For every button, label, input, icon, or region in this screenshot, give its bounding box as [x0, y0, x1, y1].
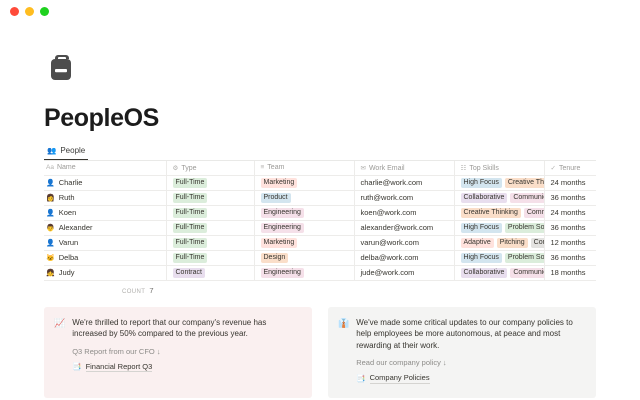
page-title: PeopleOS	[44, 104, 596, 133]
count-value: 7	[149, 286, 153, 295]
tab-people-label: People	[60, 146, 85, 155]
cell-email[interactable]: ruth@work.com	[354, 190, 454, 205]
column-header-tenure[interactable]: ✓Tenure	[544, 161, 596, 175]
tag-skill: Collaborative	[461, 268, 508, 279]
tag-skill: Collaborative	[461, 193, 508, 204]
cell-team[interactable]: Product	[254, 190, 354, 205]
cell-name-label: Judy	[59, 268, 75, 277]
count-label: Count	[122, 289, 145, 295]
tag-skill: High Focus	[461, 253, 502, 264]
cell-email[interactable]: charlie@work.com	[354, 175, 454, 190]
window-close-button[interactable]	[10, 7, 19, 16]
backpack-icon[interactable]	[44, 50, 78, 84]
tag-skill: High Focus	[461, 223, 502, 234]
database-table: AaName ⚙Type ≡Team ✉Work Email ☷Top Skil…	[44, 161, 596, 281]
window-minimize-button[interactable]	[25, 7, 34, 16]
column-header-skills-label: Top Skills	[469, 165, 499, 172]
chart-increasing-icon: 📈	[54, 317, 65, 384]
cell-team[interactable]: Marketing	[254, 235, 354, 250]
cell-name-label: Charlie	[59, 178, 83, 187]
cell-skills[interactable]: Creative ThinkingCommunication	[454, 205, 544, 220]
cell-skills[interactable]: CollaborativeCommunication	[454, 190, 544, 205]
tag-skill: Creative Thinking	[461, 208, 521, 219]
cell-name[interactable]: 👩Ruth	[44, 190, 166, 205]
document-icon: 📑	[356, 374, 365, 383]
cell-tenure[interactable]: 36 months	[544, 220, 596, 235]
callout-policies-link-label: Company Policies	[370, 373, 430, 384]
column-header-name[interactable]: AaName	[44, 161, 166, 175]
tag-skill: Communication	[510, 268, 544, 279]
callout-policies-subtext: Read our company policy ↓	[356, 358, 586, 367]
cell-email[interactable]: koen@work.com	[354, 205, 454, 220]
email-type-icon: ✉	[361, 165, 366, 172]
cell-skills[interactable]: CollaborativeCommunication	[454, 265, 544, 280]
avatar: 👩	[46, 195, 55, 202]
tag-skill: Communication	[510, 193, 544, 204]
callout-revenue-body: We're thrilled to report that our compan…	[72, 317, 302, 384]
table-body: 👤CharlieFull-TimeMarketingcharlie@work.c…	[44, 175, 596, 280]
cell-tenure[interactable]: 36 months	[544, 190, 596, 205]
avatar: 👨	[46, 225, 55, 232]
cell-email[interactable]: delba@work.com	[354, 250, 454, 265]
tag-team: Design	[261, 253, 289, 264]
callout-policies-text: We've made some critical updates to our …	[356, 317, 586, 352]
table-count-row: Count 7	[44, 281, 596, 295]
table-header-row: AaName ⚙Type ≡Team ✉Work Email ☷Top Skil…	[44, 161, 596, 175]
select-type-icon: ⚙	[173, 165, 179, 172]
column-header-name-label: Name	[57, 164, 76, 171]
cell-team[interactable]: Marketing	[254, 175, 354, 190]
tag-skill: Problem Solving	[505, 253, 544, 264]
cell-type[interactable]: Full-Time	[166, 220, 254, 235]
cell-skills[interactable]: High FocusCreative Thinking	[454, 175, 544, 190]
document-icon: 📑	[72, 362, 81, 371]
avatar: 👧	[46, 270, 55, 277]
column-header-team[interactable]: ≡Team	[254, 161, 354, 175]
tag-skill: Communication	[524, 208, 544, 219]
tag-skill: High Focus	[461, 178, 502, 189]
cell-name-label: Varun	[59, 238, 78, 247]
cell-name-label: Koen	[59, 208, 77, 217]
tag-team: Marketing	[261, 178, 298, 189]
cell-type[interactable]: Full-Time	[166, 175, 254, 190]
tag-type: Full-Time	[173, 253, 208, 264]
table-row[interactable]: 🐱DelbaFull-TimeDesigndelba@work.comHigh …	[44, 250, 596, 265]
cell-type[interactable]: Full-Time	[166, 250, 254, 265]
tag-type: Full-Time	[173, 223, 208, 234]
cell-name[interactable]: 👨Alexander	[44, 220, 166, 235]
tag-skill: Control	[531, 238, 544, 249]
tags-type-icon: ☷	[461, 165, 467, 172]
column-header-email[interactable]: ✉Work Email	[354, 161, 454, 175]
cell-email[interactable]: alexander@work.com	[354, 220, 454, 235]
avatar: 👤	[46, 240, 55, 247]
tab-people[interactable]: 👥 People	[44, 143, 88, 160]
cell-email[interactable]: jude@work.com	[354, 265, 454, 280]
window-maximize-button[interactable]	[40, 7, 49, 16]
cell-skills[interactable]: High FocusProblem Solving	[454, 250, 544, 265]
cell-skills[interactable]: High FocusProblem Solving	[454, 220, 544, 235]
callout-revenue-link-label: Financial Report Q3	[86, 362, 153, 373]
necktie-icon: 👔	[338, 317, 349, 384]
tag-team: Engineering	[261, 268, 304, 279]
cell-name[interactable]: 👧Judy	[44, 265, 166, 280]
cell-tenure[interactable]: 36 months	[544, 250, 596, 265]
view-tabs: 👥 People	[44, 143, 596, 161]
column-header-skills[interactable]: ☷Top Skills	[454, 161, 544, 175]
tag-team: Engineering	[261, 223, 304, 234]
avatar: 🐱	[46, 255, 55, 262]
cell-tenure[interactable]: 12 months	[544, 235, 596, 250]
cell-tenure[interactable]: 24 months	[544, 175, 596, 190]
multiselect-type-icon: ≡	[261, 164, 265, 171]
cell-tenure[interactable]: 24 months	[544, 205, 596, 220]
cell-email[interactable]: varun@work.com	[354, 235, 454, 250]
cell-name-label: Alexander	[59, 223, 93, 232]
callout-revenue-subtext: Q3 Report from our CFO ↓	[72, 347, 302, 356]
tag-type: Full-Time	[173, 208, 208, 219]
tag-type: Full-Time	[173, 238, 208, 249]
tag-type: Contract	[173, 268, 205, 279]
cell-name-label: Delba	[59, 253, 79, 262]
cell-type[interactable]: Contract	[166, 265, 254, 280]
callout-revenue-text: We're thrilled to report that our compan…	[72, 317, 302, 340]
tag-skill: Problem Solving	[505, 223, 544, 234]
cell-name[interactable]: 🐱Delba	[44, 250, 166, 265]
cell-team[interactable]: Engineering	[254, 220, 354, 235]
column-header-team-label: Team	[267, 164, 284, 171]
cell-type[interactable]: Full-Time	[166, 235, 254, 250]
table-row[interactable]: 👤KoenFull-TimeEngineeringkoen@work.comCr…	[44, 205, 596, 220]
cell-type[interactable]: Full-Time	[166, 205, 254, 220]
people-icon: 👥	[47, 147, 56, 155]
table-row[interactable]: 👨AlexanderFull-TimeEngineeringalexander@…	[44, 220, 596, 235]
column-header-type[interactable]: ⚙Type	[166, 161, 254, 175]
tag-skill: Pitching	[497, 238, 528, 249]
formula-type-icon: ✓	[551, 165, 556, 172]
cell-team[interactable]: Engineering	[254, 205, 354, 220]
table-row[interactable]: 👩RuthFull-TimeProductruth@work.comCollab…	[44, 190, 596, 205]
cell-name[interactable]: 👤Varun	[44, 235, 166, 250]
tag-skill: Creative Thinking	[505, 178, 544, 189]
cell-name-label: Ruth	[59, 193, 75, 202]
tag-team: Engineering	[261, 208, 304, 219]
callout-policies[interactable]: 👔 We've made some critical updates to ou…	[328, 307, 596, 398]
column-header-email-label: Work Email	[369, 165, 405, 172]
cell-skills[interactable]: AdaptivePitchingControl	[454, 235, 544, 250]
tag-team: Product	[261, 193, 291, 204]
cell-team[interactable]: Design	[254, 250, 354, 265]
tag-type: Full-Time	[173, 178, 208, 189]
tag-team: Marketing	[261, 238, 298, 249]
column-header-tenure-label: Tenure	[559, 165, 580, 172]
text-type-icon: Aa	[46, 164, 54, 171]
table-row[interactable]: 👤CharlieFull-TimeMarketingcharlie@work.c…	[44, 175, 596, 190]
avatar: 👤	[46, 210, 55, 217]
table-row[interactable]: 👧JudyContractEngineeringjude@work.comCol…	[44, 265, 596, 280]
callout-row: 📈 We're thrilled to report that our comp…	[44, 307, 596, 398]
cell-team[interactable]: Engineering	[254, 265, 354, 280]
table-row[interactable]: 👤VarunFull-TimeMarketingvarun@work.comAd…	[44, 235, 596, 250]
window-titlebar	[0, 0, 640, 22]
page-container: PeopleOS 👥 People AaName ⚙Type ≡Team ✉Wo…	[0, 50, 640, 400]
callout-revenue-link[interactable]: 📑 Financial Report Q3	[72, 362, 302, 373]
cell-tenure[interactable]: 18 months	[544, 265, 596, 280]
callout-policies-link[interactable]: 📑 Company Policies	[356, 373, 586, 384]
tag-type: Full-Time	[173, 193, 208, 204]
callout-policies-body: We've made some critical updates to our …	[356, 317, 586, 384]
cell-name[interactable]: 👤Charlie	[44, 175, 166, 190]
tag-skill: Adaptive	[461, 238, 494, 249]
callout-revenue[interactable]: 📈 We're thrilled to report that our comp…	[44, 307, 312, 398]
cell-name[interactable]: 👤Koen	[44, 205, 166, 220]
column-header-type-label: Type	[181, 165, 196, 172]
avatar: 👤	[46, 180, 55, 187]
cell-type[interactable]: Full-Time	[166, 190, 254, 205]
